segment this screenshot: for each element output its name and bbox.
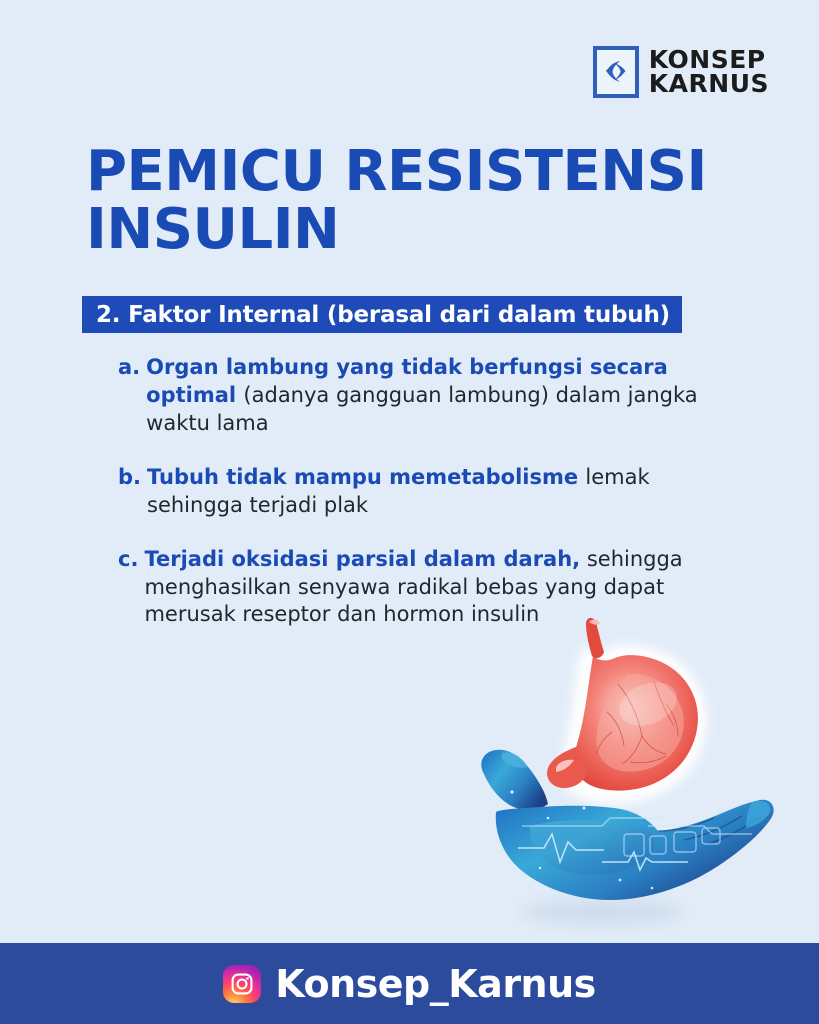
section-banner: 2. Faktor Internal (berasal dari dalam t…: [82, 296, 682, 333]
brand-line-2: KARNUS: [649, 72, 769, 96]
instagram-icon[interactable]: [223, 965, 261, 1003]
list-item-marker: b.: [118, 464, 147, 492]
list-item: c. Terjadi oksidasi parsial dalam darah,…: [118, 546, 718, 630]
brand-wordmark: KONSEP KARNUS: [649, 48, 769, 96]
list-item-text: Organ lambung yang tidak berfungsi secar…: [146, 354, 718, 438]
list-item: a. Organ lambung yang tidak berfungsi se…: [118, 354, 718, 438]
list-item-highlight: Tubuh tidak mampu memetabolisme: [147, 465, 585, 489]
list-item-marker: c.: [118, 546, 144, 574]
page-title: PEMICU RESISTENSI INSULIN: [86, 143, 726, 259]
list-item-highlight: Terjadi oksidasi parsial dalam darah,: [144, 547, 580, 571]
brand-logo: KONSEP KARNUS: [593, 46, 769, 98]
poster-canvas: KONSEP KARNUS PEMICU RESISTENSI INSULIN …: [0, 0, 819, 1024]
konsep-karnus-logo-icon: [593, 46, 639, 98]
list-item: b. Tubuh tidak mampu memetabolisme lemak…: [118, 464, 718, 520]
instagram-handle[interactable]: Konsep_Karnus: [275, 962, 596, 1006]
footer-bar: Konsep_Karnus: [0, 943, 819, 1024]
hand-holding-stomach-illustration: [452, 612, 802, 942]
list-item-marker: a.: [118, 354, 146, 382]
list-item-text: Tubuh tidak mampu memetabolisme lemak se…: [147, 464, 718, 520]
list-item-text: Terjadi oksidasi parsial dalam darah, se…: [144, 546, 718, 630]
factor-list: a. Organ lambung yang tidak berfungsi se…: [118, 354, 718, 655]
